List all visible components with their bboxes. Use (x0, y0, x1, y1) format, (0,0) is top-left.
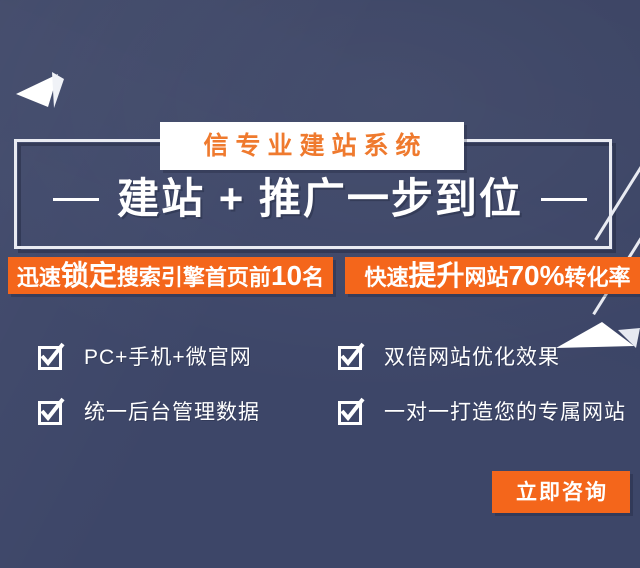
claim-segment: 名 (302, 267, 324, 289)
list-item: 一对一打造您的专属网站 (338, 401, 638, 425)
consult-now-button-label: 立即咨询 (514, 482, 608, 503)
list-item-label: 统一后台管理数据 (84, 402, 260, 423)
headline-row: 建站 + 推广一步到位 (0, 178, 640, 220)
list-item: 双倍网站优化效果 (338, 346, 638, 370)
list-item-label: 双倍网站优化效果 (384, 347, 560, 368)
claim-segment: 快速 (364, 267, 408, 289)
claim-segment: 锁定 (61, 262, 117, 290)
consult-now-button[interactable]: 立即咨询 (492, 471, 630, 513)
headline-rule-left (53, 198, 99, 201)
list-item: 统一后台管理数据 (38, 401, 338, 425)
checkbox-checked-icon (38, 401, 62, 425)
conversion-claim-bar: 快速提升网站70%转化率 (345, 257, 640, 294)
checkbox-checked-icon (338, 346, 362, 370)
claim-segment: 搜索引擎首页前 (117, 267, 271, 289)
claim-segment: 转化率 (565, 267, 631, 289)
checkbox-checked-icon (38, 346, 62, 370)
badge: 信专业建站系统 (160, 122, 464, 170)
page-title: 建站 + 推广一步到位 (117, 178, 523, 220)
ranking-claim-bar: 迅速锁定搜索引擎首页前10名 (8, 257, 333, 294)
list-item: PC+手机+微官网 (38, 346, 338, 370)
claim-segment: 迅速 (17, 267, 61, 289)
checkbox-checked-icon (338, 401, 362, 425)
promo-banner: 信专业建站系统 建站 + 推广一步到位 迅速锁定搜索引擎首页前10名 快速提升网… (0, 0, 640, 568)
claim-segment: 提升 (408, 262, 464, 290)
feature-list: PC+手机+微官网 双倍网站优化效果 统一后台管理数据 (38, 330, 638, 440)
paper-plane-top-left-icon (14, 60, 74, 112)
claim-segment: 10 (271, 262, 302, 290)
list-item-label: 一对一打造您的专属网站 (384, 402, 626, 423)
headline-rule-right (541, 198, 587, 201)
conversion-claim-text: 快速提升网站70%转化率 (364, 262, 630, 290)
ranking-claim-text: 迅速锁定搜索引擎首页前10名 (17, 262, 324, 290)
badge-label: 信专业建站系统 (196, 134, 427, 159)
claim-segment: 70% (508, 262, 564, 290)
list-item-label: PC+手机+微官网 (84, 347, 252, 368)
claim-segment: 网站 (464, 267, 508, 289)
